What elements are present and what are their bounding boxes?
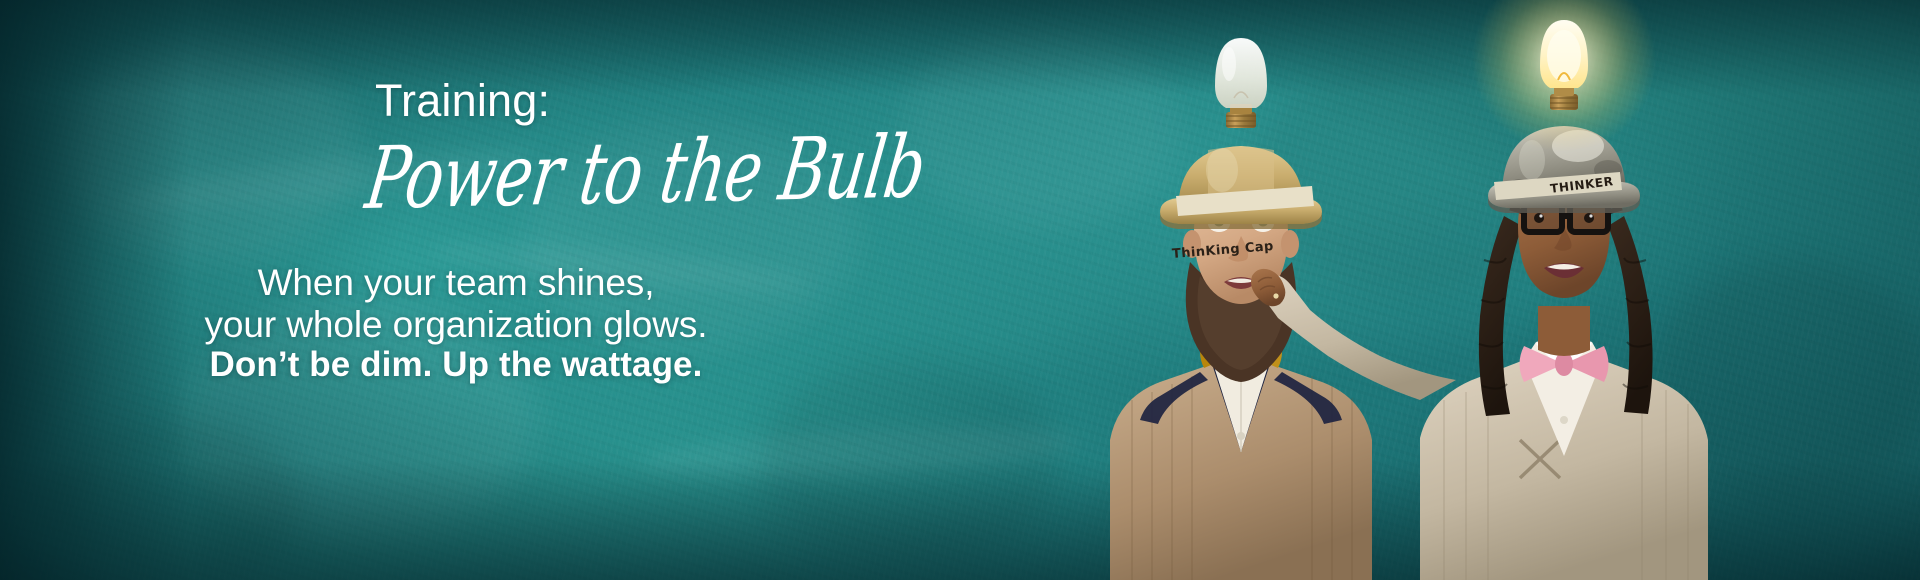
person-man (1110, 38, 1372, 580)
photo-people: ThinKing Cap THINKER (860, 0, 1920, 580)
subtitle-line-1: When your team shines, (258, 262, 655, 303)
lightbulb-icon-man (1182, 38, 1300, 212)
tagline: Don’t be dim. Up the wattage. (0, 345, 912, 385)
people-illustration (860, 0, 1920, 580)
woman-ring (1273, 293, 1278, 298)
subtitle-line-2: your whole organization glows. (0, 304, 912, 346)
training-banner: ThinKing Cap THINKER Training: Power to … (0, 0, 1920, 580)
lightbulb-icon-woman (1472, 0, 1656, 152)
headline-script-text: Power to the Bulb (359, 118, 931, 229)
subtitle: When your team shines, your whole organi… (0, 262, 912, 346)
woman-neck (1538, 306, 1590, 356)
man-shirt-button (1237, 432, 1245, 440)
headline-script-svg: Power to the Bulb (378, 116, 958, 236)
woman-shirt-button (1560, 416, 1568, 424)
man-ear-right (1281, 230, 1299, 258)
headline-script: Power to the Bulb (378, 116, 958, 236)
